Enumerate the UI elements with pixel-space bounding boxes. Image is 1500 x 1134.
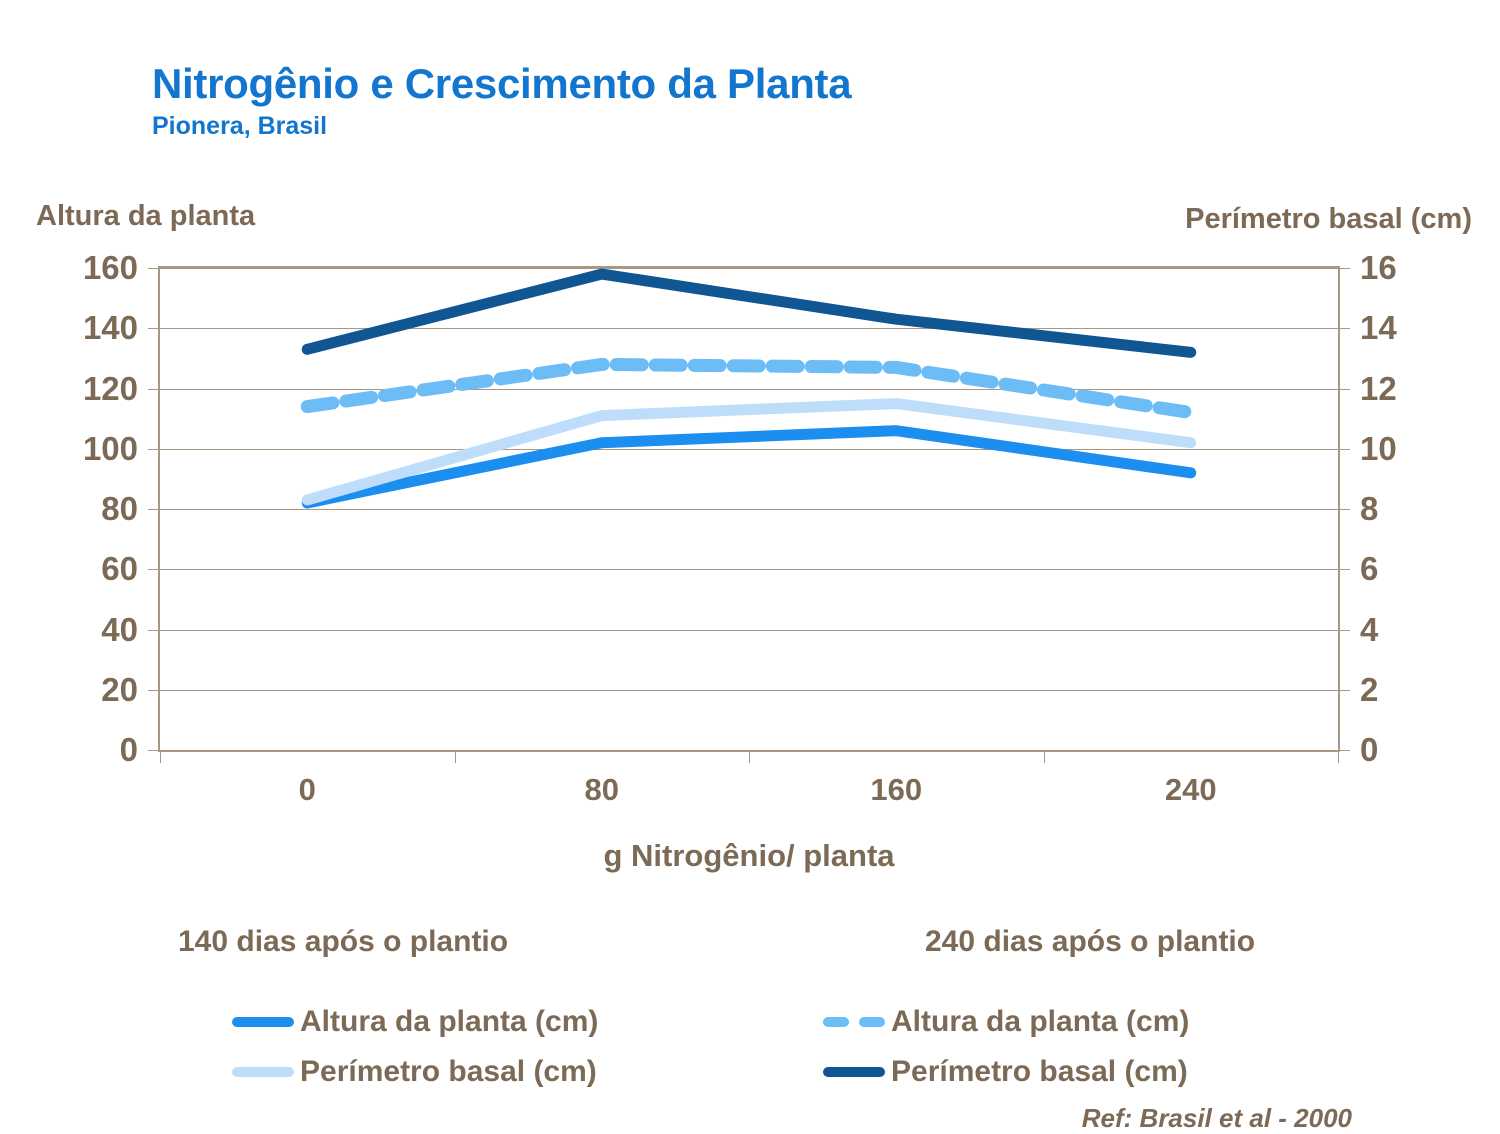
- legend-swatch-dashed-line-icon: [823, 1017, 885, 1027]
- x-axis-tick: [1338, 750, 1339, 763]
- legend-swatch-line-icon: [232, 1067, 294, 1077]
- y-axis-tick: [148, 268, 160, 269]
- legend-item-altura-140[interactable]: Altura da planta (cm): [232, 1005, 598, 1039]
- legend-group-title-240: 240 dias após o plantio: [925, 925, 1255, 959]
- y-axis-left-tick-label: 100: [83, 430, 138, 468]
- legend-item-perimetro-240[interactable]: Perímetro basal (cm): [823, 1055, 1188, 1089]
- y-axis-right-tick-label: 12: [1360, 370, 1397, 408]
- y-axis-right-tick: [1338, 268, 1350, 269]
- legend-item-label: Perímetro basal (cm): [300, 1055, 597, 1089]
- y-axis-right-tick-label: 8: [1360, 490, 1378, 528]
- legend-item-label: Perímetro basal (cm): [891, 1055, 1188, 1089]
- y-axis-left-tick-label: 160: [83, 249, 138, 287]
- y-axis-left-tick-label: 80: [101, 490, 138, 528]
- y-axis-left-tick-label: 60: [101, 550, 138, 588]
- x-axis-tick-label: 80: [585, 772, 619, 808]
- y-axis-left-tick-label: 120: [83, 370, 138, 408]
- y-axis-tick: [148, 328, 160, 329]
- y-axis-right-tick: [1338, 509, 1350, 510]
- x-axis-tick: [749, 750, 750, 763]
- y-axis-right-tick-label: 4: [1360, 611, 1378, 649]
- y-axis-tick: [148, 509, 160, 510]
- x-axis-tick-label: 0: [299, 772, 316, 808]
- y-axis-tick: [148, 630, 160, 631]
- y-axis-left-tick-label: 140: [83, 309, 138, 347]
- y-axis-right-tick: [1338, 690, 1350, 691]
- y-axis-tick: [148, 449, 160, 450]
- y-axis-right-tick-label: 14: [1360, 309, 1397, 347]
- legend-item-label: Altura da planta (cm): [300, 1005, 598, 1039]
- y-axis-tick: [148, 690, 160, 691]
- y-axis-right-tick-label: 2: [1360, 671, 1378, 709]
- legend-swatch-line-icon: [823, 1067, 885, 1077]
- y-axis-right-tick: [1338, 449, 1350, 450]
- legend-swatch-line-icon: [232, 1017, 294, 1027]
- series-line-3: [307, 274, 1191, 352]
- y-axis-right-tick: [1338, 750, 1350, 751]
- y-axis-right-tick-label: 16: [1360, 249, 1397, 287]
- y-axis-right-tick-label: 6: [1360, 550, 1378, 588]
- legend-item-altura-240[interactable]: Altura da planta (cm): [823, 1005, 1189, 1039]
- y-axis-left-tick-label: 0: [120, 731, 138, 769]
- legend: 140 dias após o plantio 240 dias após o …: [0, 915, 1500, 1126]
- plot-area: 020406080100120140160 0246810121416 0801…: [158, 266, 1340, 752]
- y-axis-right-tick: [1338, 569, 1350, 570]
- x-axis-tick: [160, 750, 161, 763]
- x-axis-tick: [455, 750, 456, 763]
- x-axis-tick-label: 240: [1165, 772, 1217, 808]
- x-axis-tick: [1044, 750, 1045, 763]
- y-axis-right-tick-label: 10: [1360, 430, 1397, 468]
- y-axis-tick: [148, 389, 160, 390]
- y-axis-tick: [148, 569, 160, 570]
- series-layer: [160, 268, 1338, 750]
- y-axis-right-tick: [1338, 328, 1350, 329]
- y-axis-right-tick: [1338, 630, 1350, 631]
- x-axis-title: g Nitrogênio/ planta: [158, 838, 1340, 874]
- legend-item-perimetro-140[interactable]: Perímetro basal (cm): [232, 1055, 597, 1089]
- y-axis-right-tick: [1338, 389, 1350, 390]
- y-axis-left-tick-label: 20: [101, 671, 138, 709]
- y-axis-tick: [148, 750, 160, 751]
- legend-group-title-140: 140 dias após o plantio: [178, 925, 508, 959]
- legend-item-label: Altura da planta (cm): [891, 1005, 1189, 1039]
- y-axis-left-tick-label: 40: [101, 611, 138, 649]
- reference-note: Ref: Brasil et al - 2000: [1082, 1103, 1352, 1134]
- y-axis-right-tick-label: 0: [1360, 731, 1378, 769]
- x-axis-tick-label: 160: [870, 772, 922, 808]
